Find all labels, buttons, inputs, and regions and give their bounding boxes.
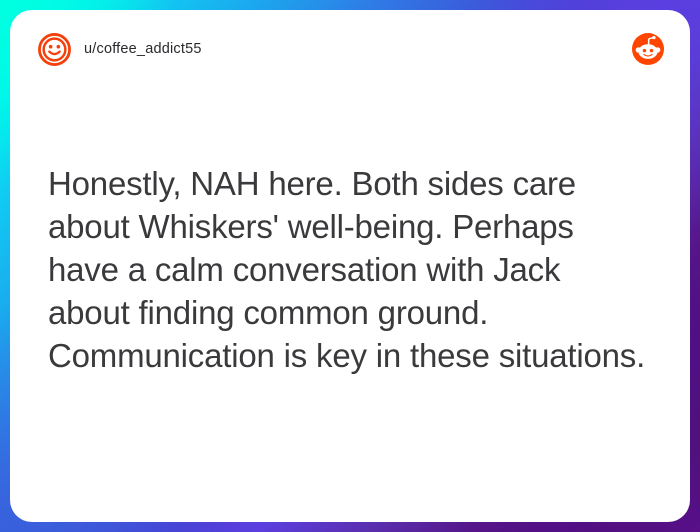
comment-text: Honestly, NAH here. Both sides care abou… (48, 162, 650, 377)
reddit-comment-card: u/coffee_addict55 (10, 10, 690, 522)
avatar[interactable] (37, 32, 72, 67)
card-header: u/coffee_addict55 (10, 10, 690, 88)
reddit-brand-logo[interactable] (632, 33, 664, 65)
screenshot-root: u/coffee_addict55 (0, 0, 700, 532)
username-label: u/coffee_addict55 (84, 41, 202, 57)
reddit-snoo-icon (632, 33, 664, 65)
smiley-face-avatar-icon (37, 32, 72, 67)
